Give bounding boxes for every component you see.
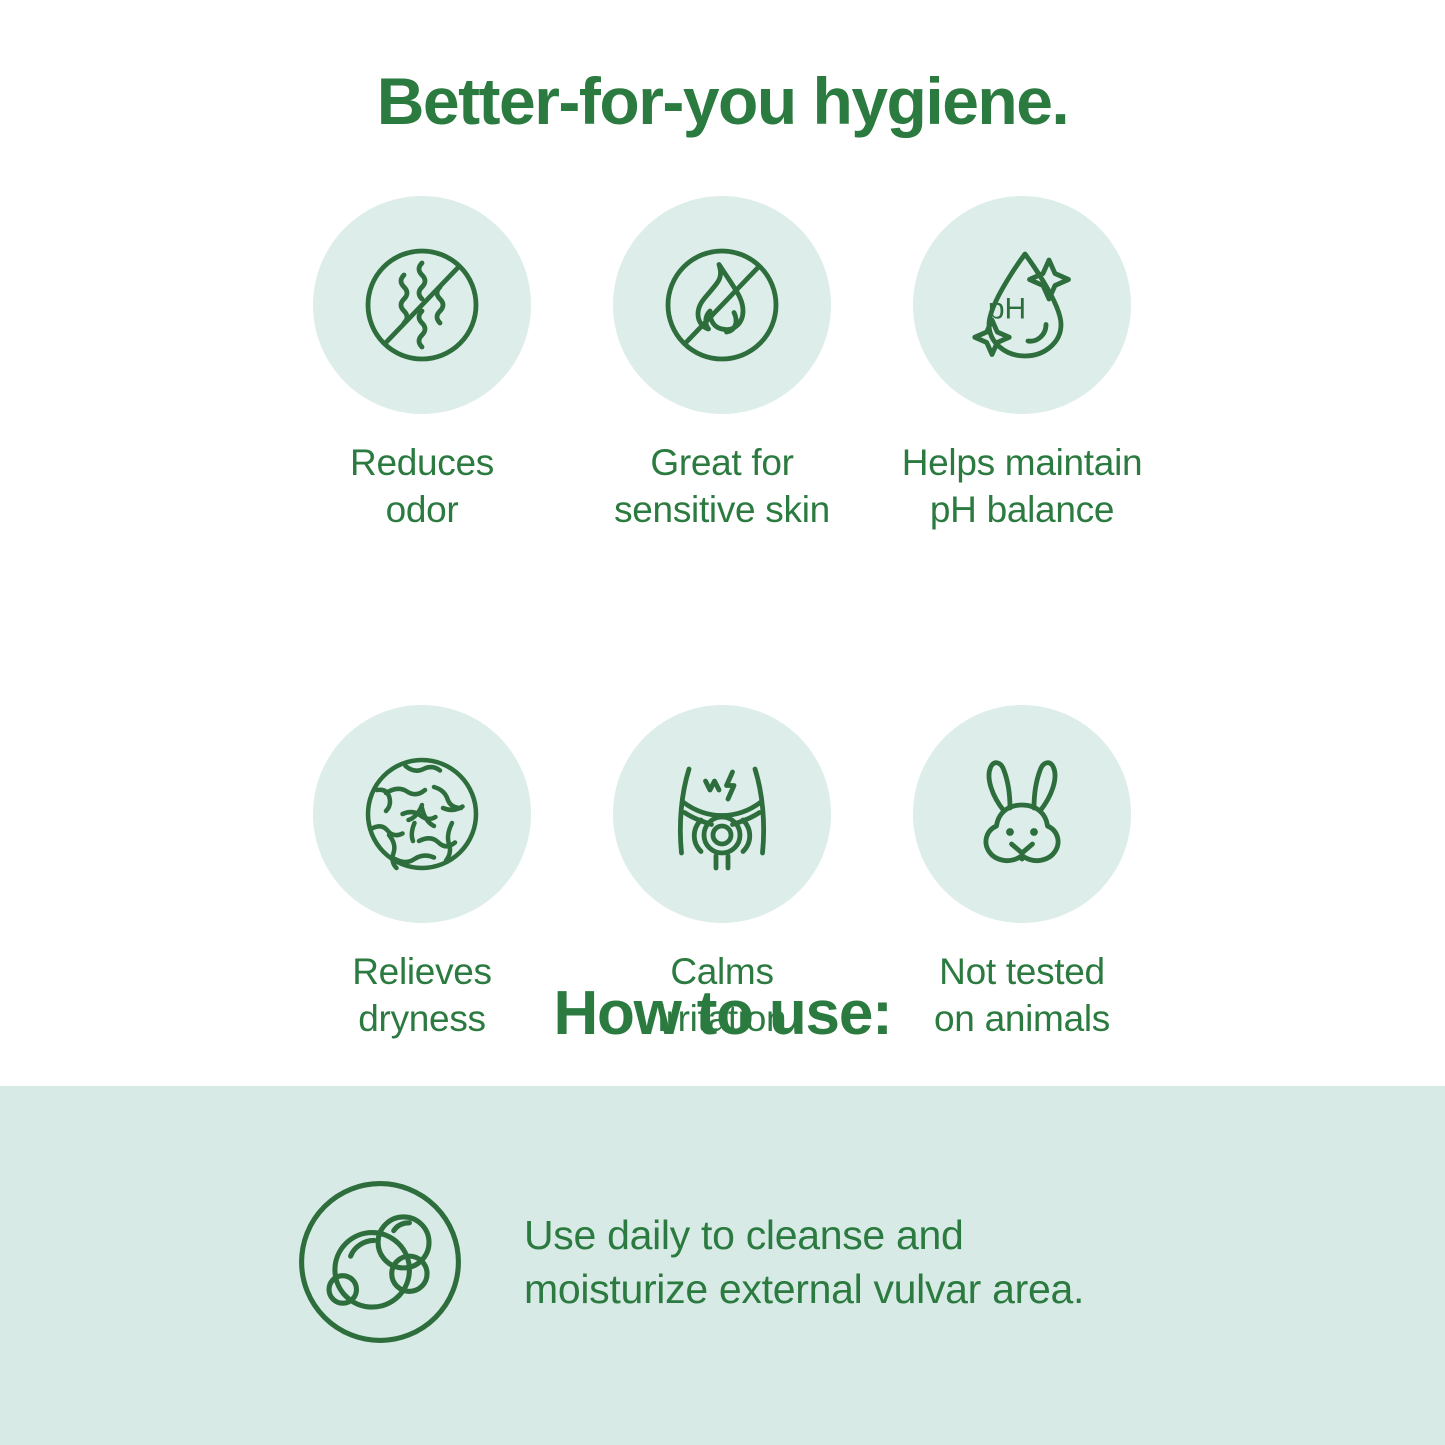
benefit-label: Great for sensitive skin bbox=[614, 440, 830, 533]
how-to-use-heading: How to use: bbox=[0, 983, 1445, 1045]
banner-content: Use daily to cleanse and moisturize exte… bbox=[282, 1164, 1084, 1360]
badge-circle bbox=[613, 196, 831, 414]
badge-circle bbox=[313, 705, 531, 923]
dry-skin-circle-icon bbox=[347, 739, 497, 889]
badge-circle bbox=[613, 705, 831, 923]
benefit-sensitive-skin: Great for sensitive skin bbox=[572, 196, 872, 533]
badge-circle bbox=[913, 705, 1131, 923]
ph-droplet-icon: pH bbox=[947, 230, 1097, 380]
no-odor-icon bbox=[347, 230, 497, 380]
benefit-reduces-odor: Reduces odor bbox=[272, 196, 572, 533]
benefits-row-one: Reduces odor Great for sensitive skin bbox=[272, 196, 1172, 533]
ph-text: pH bbox=[988, 293, 1026, 326]
badge-circle: pH bbox=[913, 196, 1131, 414]
rabbit-icon bbox=[947, 739, 1097, 889]
no-burning-flame-icon bbox=[647, 230, 797, 380]
soap-bubbles-icon bbox=[282, 1164, 478, 1360]
badge-circle bbox=[313, 196, 531, 414]
page-title: Better-for-you hygiene. bbox=[0, 68, 1445, 134]
infographic-page: Better-for-you hygiene. bbox=[0, 0, 1445, 1445]
how-to-use-instruction: Use daily to cleanse and moisturize exte… bbox=[524, 1208, 1084, 1316]
benefits-grid: Reduces odor Great for sensitive skin bbox=[272, 196, 1172, 1042]
benefit-label: Helps maintain pH balance bbox=[902, 440, 1143, 533]
benefit-ph-balance: pH Helps maintain pH balance bbox=[872, 196, 1172, 533]
how-to-use-banner: Use daily to cleanse and moisturize exte… bbox=[0, 1086, 1445, 1445]
pelvic-irritation-icon bbox=[647, 739, 797, 889]
benefit-label: Reduces odor bbox=[350, 440, 494, 533]
